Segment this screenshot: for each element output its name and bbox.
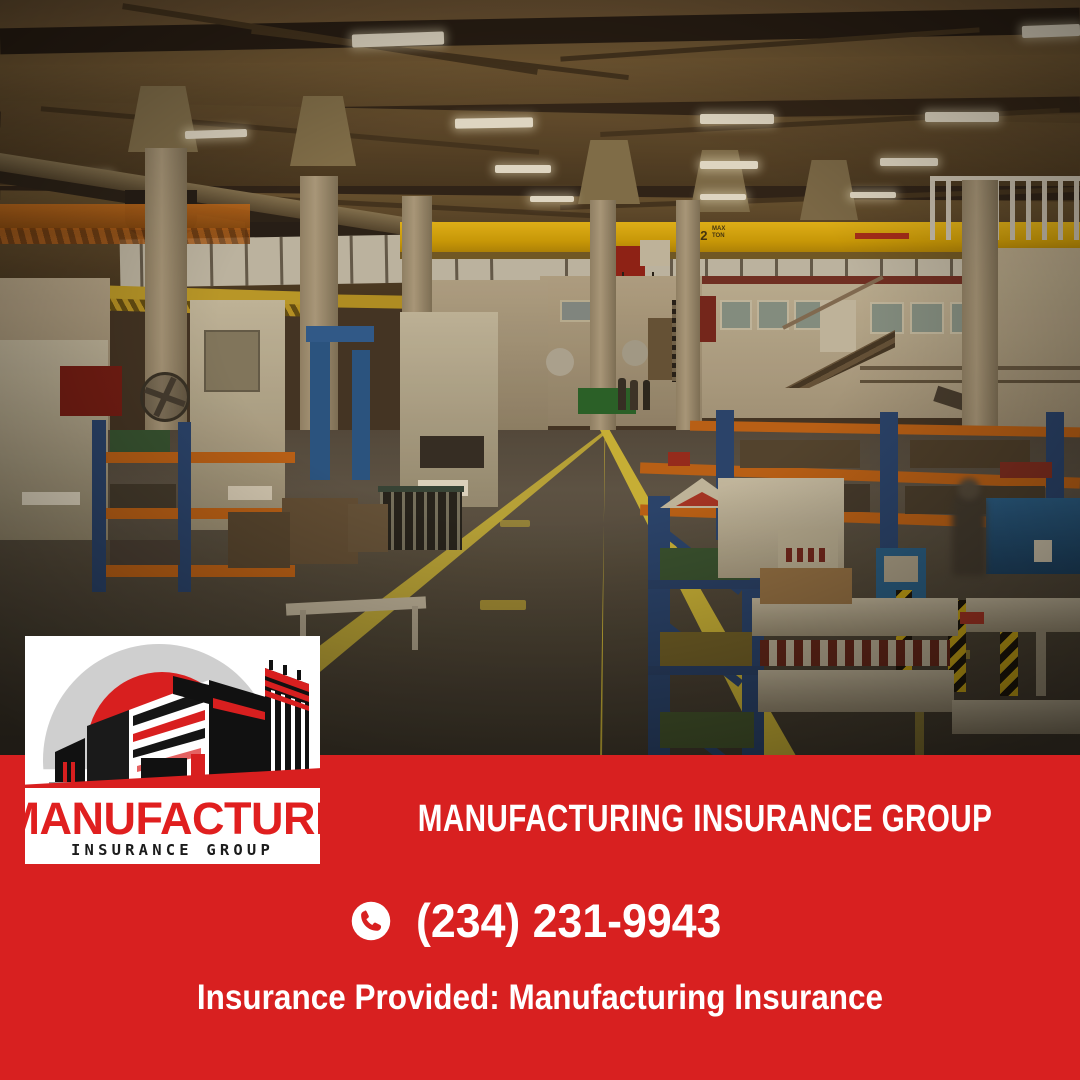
logo-subtitle: INSURANCE GROUP [25,841,320,859]
manufacturing-insurance-group-logo[interactable]: MANUFACTURING INSURANCE GROUP [25,636,320,864]
phone-number[interactable]: (234) 231-9943 [416,893,721,948]
phone-icon [350,900,392,942]
logo-wordmark: MANUFACTURING [25,793,320,845]
phone-row[interactable]: (234) 231-9943 [0,893,1080,948]
insurance-tagline: Insurance Provided: Manufacturing Insura… [54,978,1026,1018]
social-media-poster: 32 MAXTON [0,0,1080,1080]
company-name: MANUFACTURING INSURANCE GROUP [413,798,998,841]
